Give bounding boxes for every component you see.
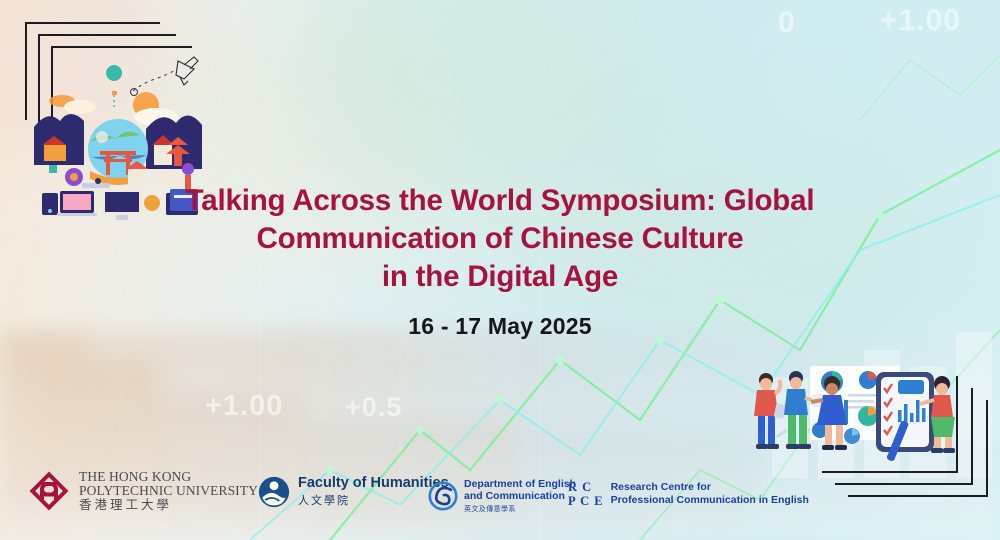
dec-chinese: 英文及傳意學系 — [464, 504, 576, 514]
logo-faculty-of-humanities: Faculty of Humanities 人文學院 — [258, 475, 449, 508]
person-red-left — [754, 373, 786, 449]
sponsor-logo-bar: THE HONG KONG POLYTECHNIC UNIVERSITY 香港理… — [0, 466, 1000, 522]
faculty-english: Faculty of Humanities — [298, 475, 449, 491]
rcpce-abbr-block: R C P C E — [568, 480, 611, 508]
polyu-wordmark: THE HONG KONG POLYTECHNIC UNIVERSITY 香港理… — [79, 470, 258, 512]
rcpce-abbr-1: R C — [568, 480, 604, 494]
faculty-chinese: 人文學院 — [298, 492, 449, 508]
rcpce-line-1: Research Centre for — [611, 481, 809, 494]
faculty-humanities-icon — [258, 476, 290, 508]
faculty-wordmark: Faculty of Humanities 人文學院 — [298, 475, 449, 508]
event-date: 16 - 17 May 2025 — [0, 313, 1000, 340]
rcpce-abbr-2: P C E — [568, 494, 604, 508]
dec-wordmark: Department of English and Communication … — [464, 478, 576, 514]
airplane-icon — [176, 57, 198, 85]
title-line-3: in the Digital Age — [0, 258, 1000, 296]
rcpce-line-2: Professional Communication in English — [611, 494, 809, 507]
symposium-poster: 0 +1.00 +1.00 +0.5 — [0, 0, 1000, 540]
logo-rcpce: R C P C E Research Centre for Profession… — [568, 480, 809, 508]
logo-department-english-communication: Department of English and Communication … — [428, 478, 576, 514]
polyu-knot-icon — [28, 470, 70, 512]
title-line-2: Communication of Chinese Culture — [0, 220, 1000, 258]
dec-line-1: Department of English — [464, 478, 576, 490]
dec-line-2: and Communication — [464, 490, 576, 502]
polyu-chinese: 香港理工大學 — [79, 499, 258, 512]
dec-spiral-icon — [428, 481, 458, 511]
polyu-line-1: THE HONG KONG — [79, 470, 258, 484]
polyu-line-2: POLYTECHNIC UNIVERSITY — [79, 484, 258, 498]
poster-title-block: Talking Across the World Symposium: Glob… — [0, 182, 1000, 340]
title-line-1: Talking Across the World Symposium: Glob… — [0, 182, 1000, 220]
logo-polyu: THE HONG KONG POLYTECHNIC UNIVERSITY 香港理… — [28, 470, 258, 512]
rcpce-wordmark: Research Centre for Professional Communi… — [611, 481, 809, 506]
